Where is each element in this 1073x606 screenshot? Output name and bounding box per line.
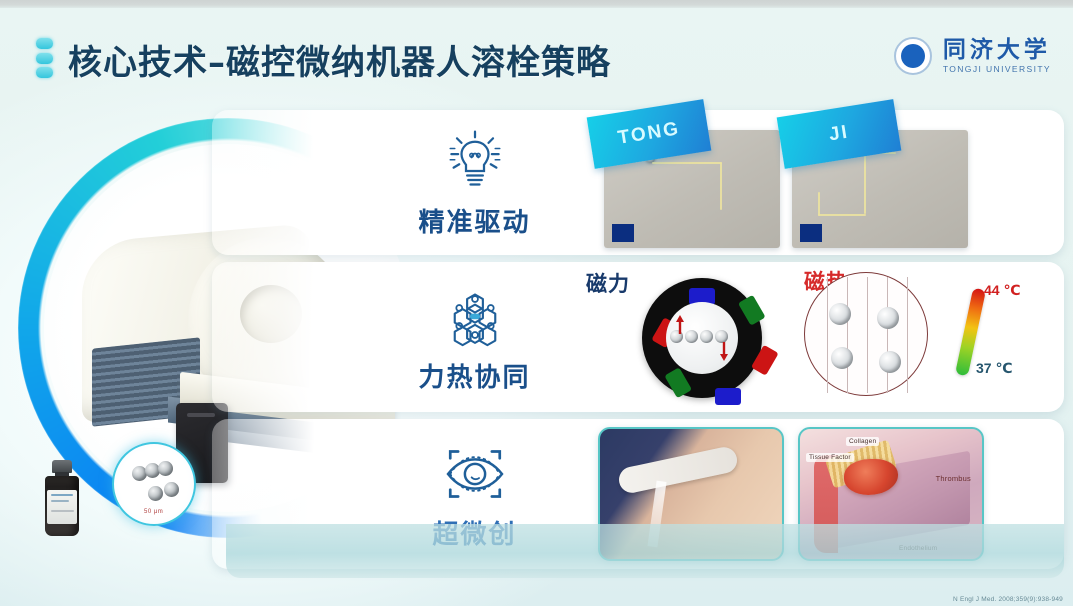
magnet-ring-diagram	[642, 278, 762, 398]
lightbulb-circuit-icon	[436, 126, 514, 198]
magnetothermal-diagram	[804, 272, 928, 396]
label-tissue-factor: Tissue Factor	[806, 453, 854, 462]
magnetic-force-caption: 磁力	[586, 268, 630, 298]
feature-label: 力热协同	[418, 357, 530, 394]
feature-panels: 精准驱动 TONG JI	[212, 110, 1064, 578]
tongji-university-logo: 同济大学 TONGJI UNIVERSITY	[894, 30, 1051, 82]
panel-precision-drive[interactable]: 精准驱动 TONG JI	[212, 110, 1064, 255]
stacked-pill-bullet-icon	[34, 38, 54, 78]
citation-text: N Engl J Med. 2008;359(9):938-949	[953, 596, 1063, 603]
panel-force-heat-synergy[interactable]: 力热协同 磁力 磁热	[212, 262, 1064, 412]
precision-drive-media: TONG JI	[584, 108, 1054, 256]
eye-scan-icon	[436, 438, 514, 510]
temp-high-label: 44 ℃	[984, 282, 1020, 299]
feature-precision-drive: 精准驱动	[377, 110, 572, 255]
force-arrows-icon	[672, 308, 732, 368]
microrobot-sem-inset: 50 μm	[112, 442, 196, 526]
label-collagen: Collagen	[846, 437, 879, 446]
page-title: 核心技术–磁控微纳机器人溶栓策略	[68, 35, 611, 84]
slide-header: 核心技术–磁控微纳机器人溶栓策略 同济大学 TONGJI UNIVERSITY	[0, 8, 1073, 94]
logo-english-name: TONGJI UNIVERSITY	[943, 64, 1051, 74]
microrobot-suspension-vial	[42, 460, 82, 538]
logo-chinese-name: 同济大学	[943, 38, 1051, 62]
label-thrombus: Thrombus	[933, 473, 974, 484]
force-heat-media: 磁力 磁热	[572, 262, 1064, 412]
panel-baseplate	[226, 524, 1064, 578]
feature-label: 精准驱动	[418, 202, 530, 239]
hexagon-cluster-icon	[436, 281, 514, 353]
top-strip	[0, 0, 1073, 8]
feature-force-heat-synergy: 力热协同	[377, 262, 572, 412]
temp-low-label: 37 ℃	[976, 360, 1012, 377]
slide-canvas: 核心技术–磁控微纳机器人溶栓策略 同济大学 TONGJI UNIVERSITY …	[0, 0, 1073, 606]
sem-scalebar-label: 50 μm	[144, 509, 163, 515]
tongji-circle-logo-icon	[894, 37, 932, 75]
